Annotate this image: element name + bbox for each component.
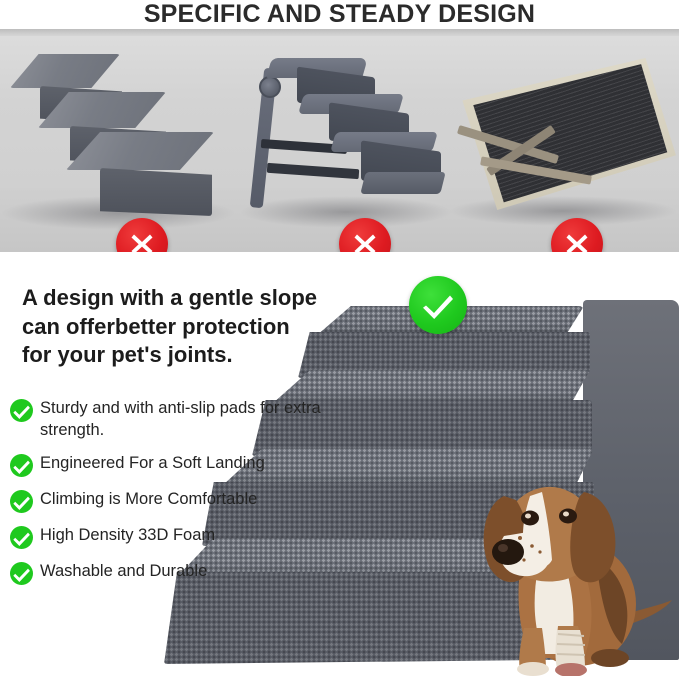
step-side — [10, 80, 42, 202]
side-rail — [267, 60, 287, 210]
feature-panel: A design with a gentle slope can offerbe… — [0, 252, 679, 679]
step-riser — [100, 168, 212, 216]
comparison-panel: Not Easy To Climb Slippery Easy To Fall — [0, 36, 679, 252]
headline-line-1: A design with a gentle slope — [22, 284, 352, 313]
check-circle-icon — [10, 490, 33, 513]
list-item-label: Climbing is More Comfortable — [40, 490, 257, 508]
list-item-label: Engineered For a Soft Landing — [40, 454, 265, 472]
check-circle-icon — [10, 562, 33, 585]
dog-photo — [458, 418, 673, 676]
list-item: Engineered For a Soft Landing — [6, 453, 346, 477]
list-item-label: High Density 33D Foam — [40, 526, 215, 544]
product-plastic-folding-stairs — [245, 50, 445, 226]
product-infographic: SPECIFIC AND STEADY DESIGN — [0, 0, 679, 679]
list-item: High Density 33D Foam — [6, 525, 346, 549]
list-item: Washable and Durable — [6, 561, 346, 585]
base-foot — [360, 172, 445, 194]
feature-headline: A design with a gentle slope can offerbe… — [22, 284, 352, 370]
step-top-surface — [10, 54, 120, 88]
headline-line-3: for your pet's joints. — [22, 341, 352, 370]
check-circle-icon — [10, 526, 33, 549]
list-item-label: Sturdy and with anti-slip pads for extra… — [40, 399, 321, 439]
headline-line-2: can offerbetter protection — [22, 313, 352, 342]
check-mark-icon — [409, 276, 467, 334]
feature-bullet-list: Sturdy and with anti-slip pads for extra… — [6, 398, 346, 597]
list-item-label: Washable and Durable — [40, 562, 207, 580]
product-foam-block-stairs — [4, 46, 230, 226]
page-title: SPECIFIC AND STEADY DESIGN — [0, 0, 679, 29]
check-circle-icon — [10, 399, 33, 422]
header: SPECIFIC AND STEADY DESIGN — [0, 0, 679, 32]
title-divider — [0, 29, 679, 36]
list-item: Sturdy and with anti-slip pads for extra… — [6, 398, 346, 441]
product-wooden-carpet-ramp — [452, 54, 677, 226]
list-item: Climbing is More Comfortable — [6, 489, 346, 513]
check-circle-icon — [10, 454, 33, 477]
